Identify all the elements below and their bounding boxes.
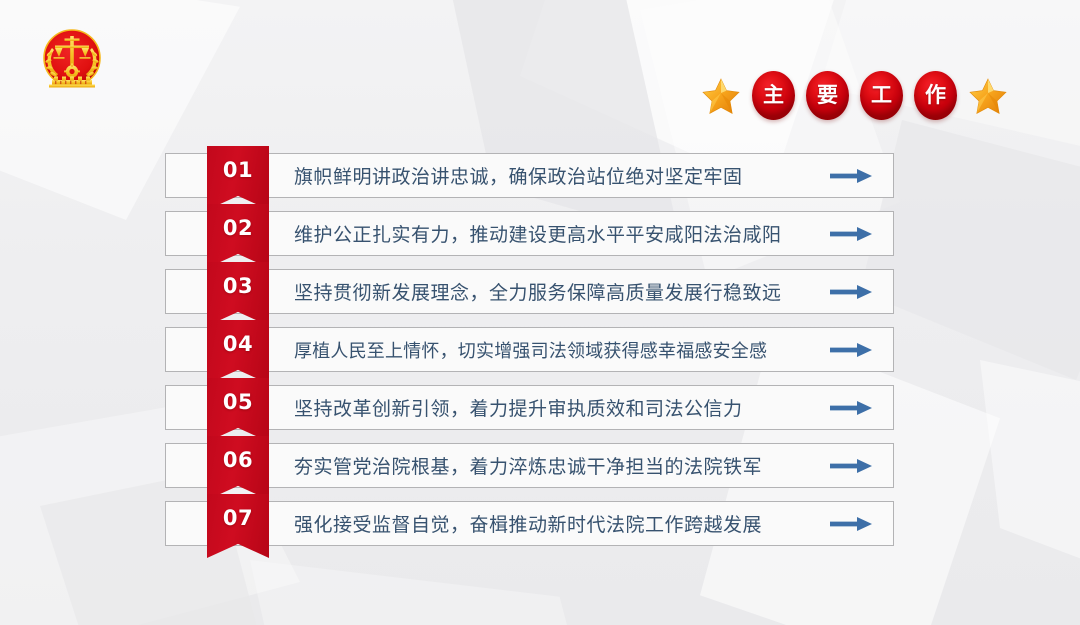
list-item[interactable]: 07 强化接受监督自觉，奋楫推动新时代法院工作跨越发展 (165, 501, 894, 546)
list-item[interactable]: 03 坚持贯彻新发展理念，全力服务保障高质量发展行稳致远 (165, 269, 894, 314)
item-number-ribbon: 02 (207, 204, 269, 268)
item-number-ribbon: 03 (207, 262, 269, 326)
agenda-list: 01 旗帜鲜明讲政治讲忠诚，确保政治站位绝对坚定牢固 02 维护公正扎实有力，推… (165, 153, 894, 546)
item-text: 维护公正扎实有力，推动建设更高水平平安咸阳法治咸阳 (294, 212, 815, 255)
list-item[interactable]: 04 厚植人民至上情怀，切实增强司法领域获得感幸福感安全感 (165, 327, 894, 372)
list-item[interactable]: 01 旗帜鲜明讲政治讲忠诚，确保政治站位绝对坚定牢固 (165, 153, 894, 198)
star-left-icon (701, 75, 741, 115)
item-text: 旗帜鲜明讲政治讲忠诚，确保政治站位绝对坚定牢固 (294, 154, 815, 197)
title-char-badge-2: 要 (806, 71, 849, 120)
item-number: 07 (223, 508, 253, 529)
item-number-ribbon: 07 (207, 494, 269, 558)
title-badge-group: 主 要 工 作 (752, 71, 957, 120)
item-number-ribbon: 01 (207, 146, 269, 210)
right-arrow-icon[interactable] (830, 342, 872, 358)
item-number: 04 (223, 334, 253, 355)
right-arrow-icon[interactable] (830, 284, 872, 300)
item-text: 坚持改革创新引领，着力提升审执质效和司法公信力 (294, 386, 815, 429)
item-text: 夯实管党治院根基，着力淬炼忠诚干净担当的法院铁军 (294, 444, 815, 487)
page-title: 主 要 工 作 (701, 70, 1008, 120)
item-number-ribbon: 04 (207, 320, 269, 384)
star-right-icon (968, 75, 1008, 115)
item-number: 03 (223, 276, 253, 297)
title-char-badge-1: 主 (752, 71, 795, 120)
item-number: 01 (223, 160, 253, 181)
item-text: 强化接受监督自觉，奋楫推动新时代法院工作跨越发展 (294, 502, 815, 545)
list-item[interactable]: 06 夯实管党治院根基，着力淬炼忠诚干净担当的法院铁军 (165, 443, 894, 488)
item-number: 06 (223, 450, 253, 471)
court-emblem-icon (36, 24, 108, 106)
right-arrow-icon[interactable] (830, 400, 872, 416)
item-number: 02 (223, 218, 253, 239)
list-item[interactable]: 05 坚持改革创新引领，着力提升审执质效和司法公信力 (165, 385, 894, 430)
slide-canvas: 主 要 工 作 01 旗帜鲜明讲政治讲忠诚，确保政治站位绝 (0, 0, 1080, 625)
right-arrow-icon[interactable] (830, 226, 872, 242)
item-number-ribbon: 06 (207, 436, 269, 500)
item-number: 05 (223, 392, 253, 413)
right-arrow-icon[interactable] (830, 168, 872, 184)
title-char-badge-3: 工 (860, 71, 903, 120)
title-char-badge-4: 作 (914, 71, 957, 120)
right-arrow-icon[interactable] (830, 458, 872, 474)
item-number-ribbon: 05 (207, 378, 269, 442)
list-item[interactable]: 02 维护公正扎实有力，推动建设更高水平平安咸阳法治咸阳 (165, 211, 894, 256)
item-text: 厚植人民至上情怀，切实增强司法领域获得感幸福感安全感 (294, 328, 815, 371)
right-arrow-icon[interactable] (830, 516, 872, 532)
item-text: 坚持贯彻新发展理念，全力服务保障高质量发展行稳致远 (294, 270, 815, 313)
